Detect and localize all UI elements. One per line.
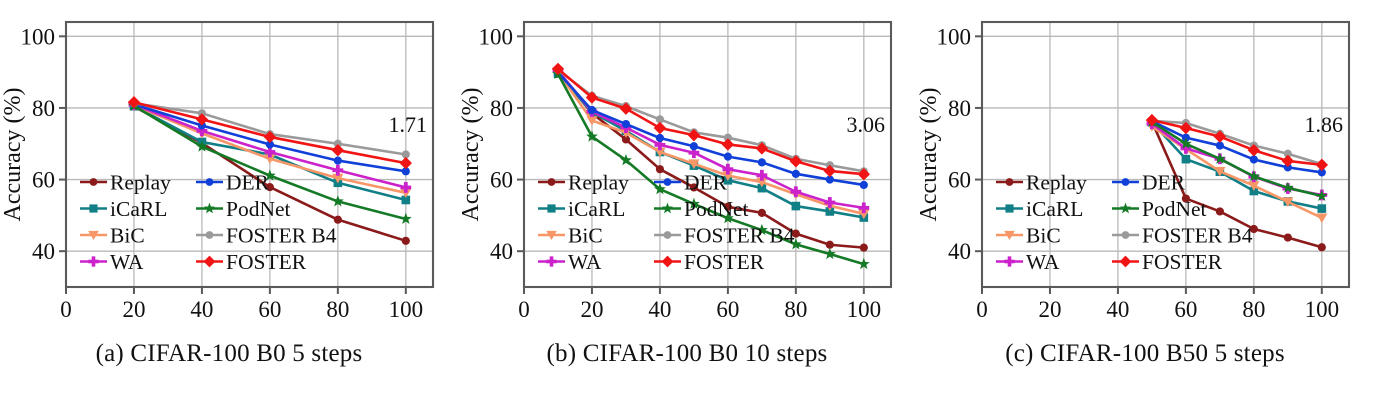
legend-item-der[interactable]: DER	[196, 171, 270, 195]
legend-item-bic[interactable]: BiC	[538, 224, 603, 248]
x-tick-label: 0	[518, 297, 530, 318]
legend-label: WA	[110, 250, 144, 274]
marker-diamond	[654, 122, 666, 134]
marker-circle	[860, 244, 868, 252]
y-tick-label: 100	[479, 24, 514, 49]
legend-label: DER	[684, 171, 728, 195]
legend-label: FOSTER B4	[226, 224, 337, 248]
y-axis-title: Accuracy (%)	[458, 88, 484, 222]
chart-svg-a: 406080100020406080100Number of classesAc…	[0, 0, 458, 318]
marker-plus-v	[828, 197, 832, 208]
y-tick-label: 40	[490, 239, 513, 264]
y-axis: 406080100	[479, 24, 525, 264]
improvement-annotation: 3.06	[847, 112, 886, 137]
legend-label: DER	[1142, 171, 1186, 195]
plot-area-b: 406080100020406080100Number of classesAc…	[458, 0, 916, 318]
x-tick-label: 40	[190, 297, 213, 318]
panel-caption-a: (a) CIFAR-100 B0 5 steps	[0, 340, 458, 368]
marker-plus-v	[550, 256, 554, 266]
marker-circle	[548, 178, 556, 186]
marker-square	[792, 202, 801, 211]
legend-item-icarl[interactable]: iCaRL	[538, 197, 625, 221]
legend-item-wa[interactable]: WA	[80, 250, 144, 274]
marker-plus-v	[794, 186, 798, 197]
legend-label: FOSTER	[226, 250, 307, 274]
marker-circle	[1284, 233, 1292, 241]
y-tick-label: 40	[948, 239, 971, 264]
legend-label: PodNet	[1142, 197, 1207, 221]
y-tick-label: 60	[32, 168, 55, 193]
legend-label: FOSTER	[684, 250, 765, 274]
marker-diamond	[662, 256, 674, 268]
marker-plus-v	[1008, 256, 1012, 266]
panel-caption-c: (c) CIFAR-100 B50 5 steps	[916, 340, 1374, 368]
x-tick-label: 0	[976, 297, 988, 318]
legend-label: Replay	[568, 171, 629, 195]
legend-item-podnet[interactable]: PodNet	[1112, 197, 1207, 221]
marker-circle	[1122, 178, 1130, 186]
legend-label: FOSTER B4	[684, 224, 795, 248]
y-tick-label: 60	[948, 168, 971, 193]
legend-label: Replay	[1026, 171, 1087, 195]
panel-caption-b: (b) CIFAR-100 B0 10 steps	[458, 340, 916, 368]
marker-circle	[588, 106, 596, 114]
x-tick-label: 80	[326, 297, 349, 318]
marker-circle	[1318, 243, 1326, 251]
x-axis: 020406080100	[976, 287, 1339, 318]
x-tick-label: 100	[1305, 297, 1340, 318]
marker-square	[89, 204, 97, 212]
marker-star	[1120, 203, 1131, 214]
y-tick-label: 60	[490, 168, 513, 193]
x-tick-label: 100	[389, 297, 424, 318]
x-tick-label: 0	[60, 297, 72, 318]
marker-circle	[1006, 178, 1014, 186]
x-axis: 020406080100	[518, 287, 881, 318]
marker-circle	[860, 181, 868, 189]
plot-area-a: 406080100020406080100Number of classesAc…	[0, 0, 458, 318]
x-tick-label: 40	[648, 297, 671, 318]
legend-item-podnet[interactable]: PodNet	[654, 197, 749, 221]
marker-circle	[792, 170, 800, 178]
legend-label: WA	[1026, 250, 1060, 274]
marker-circle	[690, 142, 698, 150]
legend-item-foster-b4[interactable]: FOSTER B4	[654, 224, 795, 248]
marker-diamond	[722, 138, 734, 150]
marker-diamond	[204, 256, 216, 268]
plot-area-c: 406080100020406080100Number of classesAc…	[916, 0, 1374, 318]
marker-star	[204, 203, 215, 214]
marker-circle	[206, 178, 214, 186]
x-tick-label: 20	[122, 297, 145, 318]
marker-diamond	[1120, 256, 1132, 268]
y-axis: 406080100	[937, 24, 983, 264]
marker-plus	[1004, 256, 1014, 266]
legend-label: DER	[226, 171, 270, 195]
marker-circle	[724, 153, 732, 161]
legend-label: FOSTER	[1142, 250, 1223, 274]
x-tick-label: 60	[716, 297, 739, 318]
legend-item-wa[interactable]: WA	[996, 250, 1060, 274]
x-tick-label: 80	[784, 297, 807, 318]
marker-circle	[656, 134, 664, 142]
marker-circle	[664, 178, 672, 186]
marker-circle	[664, 231, 672, 239]
x-tick-label: 60	[1174, 297, 1197, 318]
marker-plus	[88, 256, 98, 266]
chart-svg-b: 406080100020406080100Number of classesAc…	[458, 0, 916, 318]
marker-diamond	[1316, 159, 1328, 171]
marker-diamond	[400, 157, 412, 169]
marker-circle	[206, 231, 214, 239]
marker-circle	[334, 156, 342, 164]
y-axis-title: Accuracy (%)	[0, 88, 26, 222]
legend-item-podnet[interactable]: PodNet	[196, 197, 291, 221]
chart-panel-b: 406080100020406080100Number of classesAc…	[458, 0, 916, 409]
legend-label: BiC	[1026, 224, 1061, 248]
marker-circle	[1216, 207, 1224, 215]
y-tick-label: 80	[948, 96, 971, 121]
legend-item-replay[interactable]: Replay	[996, 171, 1087, 195]
y-axis-title: Accuracy (%)	[916, 88, 942, 222]
chart-svg-c: 406080100020406080100Number of classesAc…	[916, 0, 1374, 318]
marker-circle	[1250, 155, 1258, 163]
marker-circle	[758, 158, 766, 166]
marker-square	[1182, 155, 1191, 164]
legend-label: iCaRL	[110, 197, 167, 221]
marker-plus-v	[862, 202, 866, 213]
chart-panel-a: 406080100020406080100Number of classesAc…	[0, 0, 458, 409]
legend-item-icarl[interactable]: iCaRL	[80, 197, 167, 221]
marker-square	[1005, 204, 1013, 212]
y-tick-label: 80	[490, 96, 513, 121]
legend-item-bic[interactable]: BiC	[80, 224, 145, 248]
x-tick-label: 20	[580, 297, 603, 318]
legend-label: BiC	[568, 224, 603, 248]
legend-item-replay[interactable]: Replay	[80, 171, 171, 195]
y-tick-label: 40	[32, 239, 55, 264]
legend-label: iCaRL	[568, 197, 625, 221]
marker-plus-v	[404, 182, 408, 193]
y-tick-label: 100	[21, 24, 56, 49]
legend-item-foster[interactable]: FOSTER	[196, 250, 307, 274]
marker-star	[662, 203, 673, 214]
chart-panel-c: 406080100020406080100Number of classesAc…	[916, 0, 1374, 409]
marker-star	[824, 248, 836, 259]
legend-label: PodNet	[226, 197, 291, 221]
y-axis: 406080100	[21, 24, 67, 264]
legend-label: Replay	[110, 171, 171, 195]
marker-circle	[622, 120, 630, 128]
marker-circle	[1122, 231, 1130, 239]
legend-item-bic[interactable]: BiC	[996, 224, 1061, 248]
marker-square	[547, 204, 555, 212]
legend: ReplayiCaRLBiCWADERPodNetFOSTER B4FOSTER	[996, 171, 1253, 275]
marker-square	[1318, 204, 1327, 213]
x-tick-label: 20	[1038, 297, 1061, 318]
legend-item-icarl[interactable]: iCaRL	[996, 197, 1083, 221]
marker-diamond	[332, 144, 344, 156]
series-polyline	[1152, 121, 1322, 172]
legend-item-der[interactable]: DER	[1112, 171, 1186, 195]
legend-item-wa[interactable]: WA	[538, 250, 602, 274]
improvement-annotation: 1.86	[1305, 112, 1344, 137]
legend-item-foster[interactable]: FOSTER	[1112, 250, 1223, 274]
legend-label: FOSTER B4	[1142, 224, 1253, 248]
improvement-annotation: 1.71	[389, 112, 428, 137]
series-polyline	[1152, 122, 1322, 208]
legend-label: WA	[568, 250, 602, 274]
marker-triangle-down	[1316, 213, 1327, 223]
y-tick-label: 80	[32, 96, 55, 121]
legend-item-foster-b4[interactable]: FOSTER B4	[196, 224, 337, 248]
marker-circle	[826, 241, 834, 249]
marker-circle	[90, 178, 98, 186]
x-tick-label: 40	[1106, 297, 1129, 318]
legend-item-replay[interactable]: Replay	[538, 171, 629, 195]
legend-item-foster[interactable]: FOSTER	[654, 250, 765, 274]
y-tick-label: 100	[937, 24, 972, 49]
series-polyline	[558, 70, 864, 171]
legend-label: BiC	[110, 224, 145, 248]
legend-label: iCaRL	[1026, 197, 1083, 221]
x-tick-label: 60	[258, 297, 281, 318]
marker-plus-v	[336, 165, 340, 176]
legend-label: PodNet	[684, 197, 749, 221]
x-tick-label: 100	[847, 297, 882, 318]
marker-circle	[402, 237, 410, 245]
marker-plus-v	[760, 170, 764, 181]
x-tick-label: 80	[1242, 297, 1265, 318]
legend-item-foster-b4[interactable]: FOSTER B4	[1112, 224, 1253, 248]
marker-circle	[758, 209, 766, 217]
marker-plus	[546, 256, 556, 266]
marker-plus-v	[92, 256, 96, 266]
x-axis: 020406080100	[60, 287, 423, 318]
marker-circle	[656, 165, 664, 173]
figure-three-panel-accuracy-charts: 406080100020406080100Number of classesAc…	[0, 0, 1375, 409]
